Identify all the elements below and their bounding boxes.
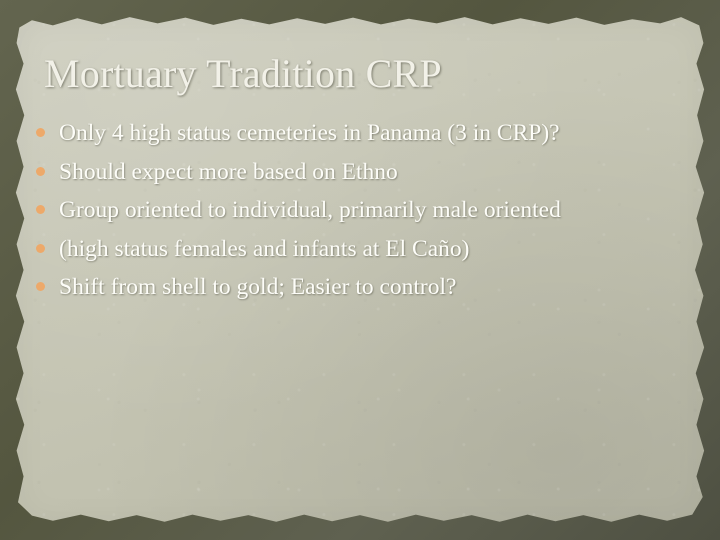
slide-title: Mortuary Tradition CRP (44, 50, 442, 97)
bullet-dot-icon (36, 282, 45, 291)
bullet-dot-icon (36, 205, 45, 214)
bullet-dot-icon (36, 167, 45, 176)
list-item-label: Shift from shell to gold; Easier to cont… (59, 272, 456, 302)
bullet-list: Only 4 high status cemeteries in Panama … (36, 118, 686, 311)
list-item-label: Group oriented to individual, primarily … (59, 195, 561, 225)
list-item-label: Should expect more based on Ethno (59, 157, 398, 187)
bullet-dot-icon (36, 244, 45, 253)
list-item: Shift from shell to gold; Easier to cont… (36, 272, 686, 302)
presentation-slide: Mortuary Tradition CRP Only 4 high statu… (0, 0, 720, 540)
list-item: Group oriented to individual, primarily … (36, 195, 686, 225)
list-item: (high status females and infants at El C… (36, 234, 686, 264)
list-item-label: (high status females and infants at El C… (59, 234, 470, 264)
list-item-label: Only 4 high status cemeteries in Panama … (59, 118, 560, 148)
list-item: Should expect more based on Ethno (36, 157, 686, 187)
list-item: Only 4 high status cemeteries in Panama … (36, 118, 686, 148)
slide-content: Mortuary Tradition CRP Only 4 high statu… (0, 0, 720, 540)
bullet-dot-icon (36, 128, 45, 137)
